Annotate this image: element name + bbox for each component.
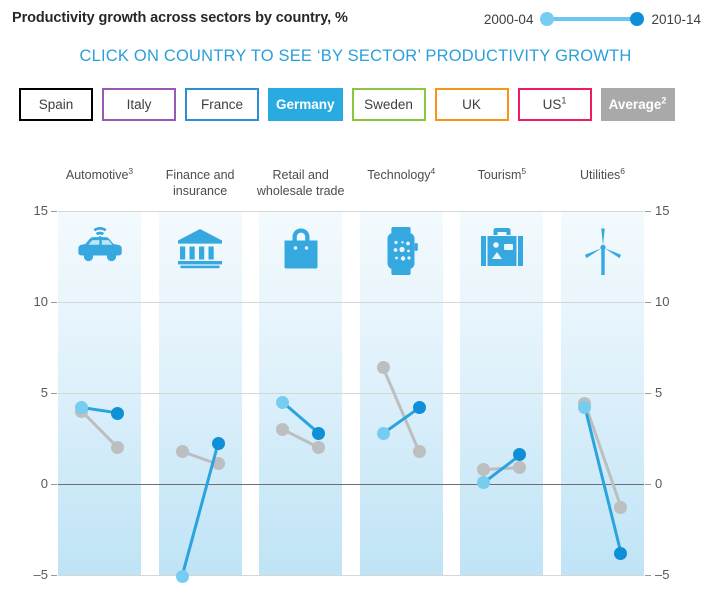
country-footnote-marker: 1 [561, 96, 566, 106]
data-point[interactable] [176, 445, 189, 458]
y-axis-label-right: 5 [655, 385, 689, 400]
data-point[interactable] [111, 407, 124, 420]
y-axis-tick [645, 302, 651, 303]
y-axis-tick [51, 575, 57, 576]
sector-footnote-marker: 4 [431, 166, 436, 176]
sector-footnote-marker: 5 [521, 166, 526, 176]
data-point[interactable] [276, 396, 289, 409]
bank-icon [159, 225, 242, 269]
wind-turbine-icon [561, 225, 644, 277]
gridline [58, 393, 644, 394]
data-point[interactable] [377, 427, 390, 440]
country-button-italy[interactable]: Italy [102, 88, 176, 121]
y-axis-label-right: –5 [655, 567, 689, 582]
legend-start-dot [540, 12, 554, 26]
y-axis-label-left: 15 [14, 203, 48, 218]
data-point[interactable] [312, 427, 325, 440]
data-point[interactable] [377, 361, 390, 374]
sector-header-utilities: Utilities6 [544, 168, 662, 184]
legend: 2000-04 2010-14 [484, 11, 701, 27]
chart: –5–5005510101515 [58, 211, 644, 575]
country-button-germany[interactable]: Germany [268, 88, 343, 121]
country-button-average[interactable]: Average2 [601, 88, 675, 121]
country-button-label: US [543, 97, 562, 112]
data-point[interactable] [212, 437, 225, 450]
data-point[interactable] [413, 401, 426, 414]
plot-area: –5–5005510101515 [58, 211, 644, 575]
data-point[interactable] [614, 547, 627, 560]
connected-car-icon [58, 225, 141, 269]
data-point[interactable] [111, 441, 124, 454]
sector-footnote-marker: 3 [128, 166, 133, 176]
gridline [58, 211, 644, 212]
country-button-label: Sweden [364, 97, 413, 112]
sector-header-line2: wholesale trade [242, 184, 360, 200]
smartwatch-icon [360, 225, 443, 277]
y-axis-label-left: –5 [14, 567, 48, 582]
y-axis-label-left: 5 [14, 385, 48, 400]
y-axis-label-left: 10 [14, 294, 48, 309]
legend-end-label: 2010-14 [651, 12, 701, 27]
country-button-us[interactable]: US1 [518, 88, 592, 121]
shopping-bag-icon [259, 225, 342, 271]
sector-headers: Automotive3Finance andinsuranceRetail an… [58, 168, 644, 208]
y-axis-tick [51, 211, 57, 212]
page-title: Productivity growth across sectors by co… [12, 10, 348, 26]
country-button-label: UK [462, 97, 481, 112]
data-point[interactable] [75, 401, 88, 414]
y-axis-label-right: 15 [655, 203, 689, 218]
country-button-uk[interactable]: UK [435, 88, 509, 121]
suitcase-icon [460, 225, 543, 269]
zero-axis-line [58, 484, 644, 485]
y-axis-label-right: 0 [655, 476, 689, 491]
data-point[interactable] [276, 423, 289, 436]
y-axis-label-right: 10 [655, 294, 689, 309]
country-button-label: Italy [127, 97, 152, 112]
y-axis-tick [645, 211, 651, 212]
instruction-text: CLICK ON COUNTRY TO SEE ‘BY SECTOR’ PROD… [0, 47, 711, 66]
legend-end-dot [630, 12, 644, 26]
header: Productivity growth across sectors by co… [8, 8, 703, 34]
country-button-label: France [201, 97, 243, 112]
data-point[interactable] [578, 401, 591, 414]
y-axis-tick [645, 484, 651, 485]
gridline [58, 302, 644, 303]
country-button-label: Spain [39, 97, 74, 112]
country-button-label: Average [609, 97, 662, 112]
y-axis-tick [645, 393, 651, 394]
sector-header-line1: Utilities6 [544, 168, 662, 184]
data-point[interactable] [413, 445, 426, 458]
y-axis-tick [51, 484, 57, 485]
country-button-france[interactable]: France [185, 88, 259, 121]
country-footnote-marker: 2 [661, 96, 666, 106]
legend-line [546, 17, 638, 21]
gridline [58, 575, 644, 576]
country-button-label: Germany [276, 97, 335, 112]
data-point[interactable] [477, 476, 490, 489]
country-button-spain[interactable]: Spain [19, 88, 93, 121]
infographic-root: Productivity growth across sectors by co… [0, 0, 711, 598]
legend-swatch [540, 11, 644, 27]
legend-start-label: 2000-04 [484, 12, 534, 27]
y-axis-tick [645, 575, 651, 576]
y-axis-tick [51, 393, 57, 394]
country-button-sweden[interactable]: Sweden [352, 88, 426, 121]
country-selector: SpainItalyFranceGermanySwedenUKUS1Averag… [19, 88, 675, 121]
sector-footnote-marker: 6 [620, 166, 625, 176]
data-point[interactable] [176, 570, 189, 583]
y-axis-tick [51, 302, 57, 303]
y-axis-label-left: 0 [14, 476, 48, 491]
